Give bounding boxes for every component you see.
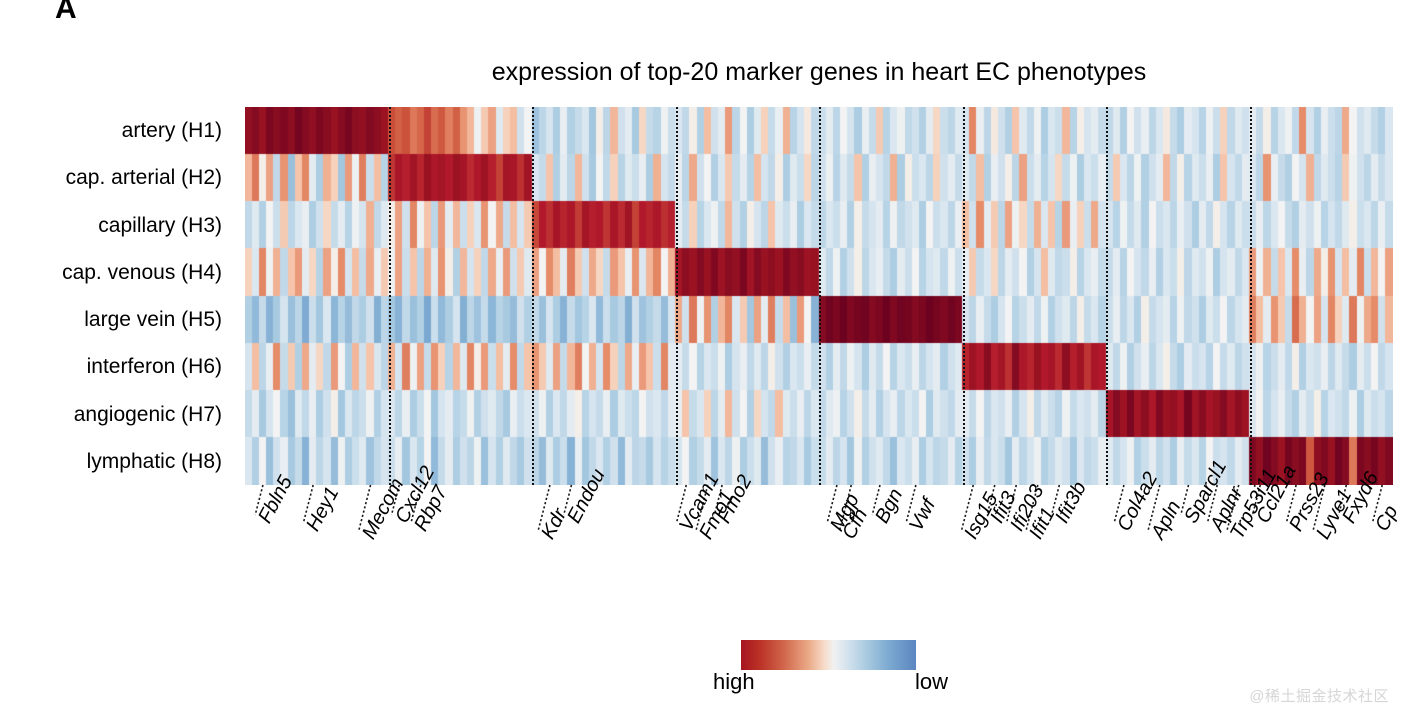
colorbar-high-label: high — [713, 671, 755, 693]
colorbar-legend: high low — [741, 640, 916, 697]
gene-label-ifit3b: Ifit3b — [1052, 479, 1090, 527]
heatmap — [245, 107, 1393, 485]
colorbar-labels: high low — [741, 671, 916, 697]
gene-label-cp: Cp — [1372, 502, 1402, 534]
row-label-h6: interferon (H6) — [0, 343, 232, 390]
gene-label-hey1: Hey1 — [303, 484, 343, 535]
row-label-h4: cap. venous (H4) — [0, 249, 232, 296]
row-label-h2: cap. arterial (H2) — [0, 154, 232, 201]
row-label-h7: angiogenic (H7) — [0, 391, 232, 438]
row-label-h1: artery (H1) — [0, 107, 232, 154]
colorbar-gradient — [741, 640, 916, 670]
colorbar-low-label: low — [915, 671, 948, 693]
panel-letter: A — [55, 0, 77, 26]
gene-label-vwf: Vwf — [906, 496, 939, 535]
row-label-h5: large vein (H5) — [0, 296, 232, 343]
row-label-axis: artery (H1)cap. arterial (H2)capillary (… — [0, 107, 232, 485]
row-label-h3: capillary (H3) — [0, 202, 232, 249]
heatmap-canvas — [245, 107, 1393, 485]
watermark: @稀土掘金技术社区 — [1249, 685, 1389, 706]
page-title: expression of top-20 marker genes in hea… — [245, 58, 1393, 87]
gene-label-bgn: Bgn — [872, 486, 906, 527]
row-label-h8: lymphatic (H8) — [0, 438, 232, 485]
gene-label-apln: Apln — [1148, 498, 1184, 543]
